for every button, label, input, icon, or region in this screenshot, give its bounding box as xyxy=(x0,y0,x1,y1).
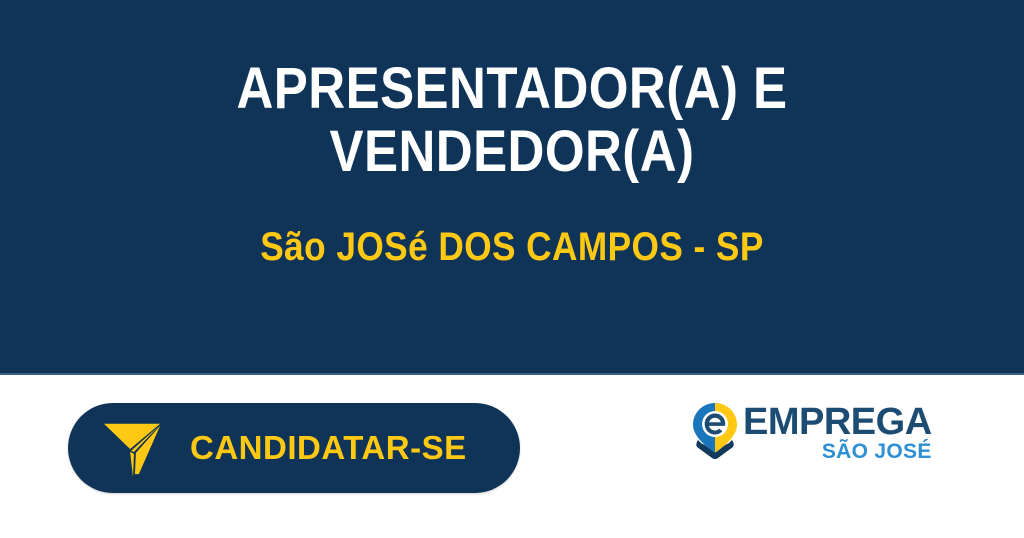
brand-subtitle: SÃO JOSÉ xyxy=(822,441,932,462)
brand-logo: EMPREGA SÃO JOSÉ xyxy=(692,400,924,470)
page-title: APRESENTADOR(A) E VENDEDOR(A) xyxy=(61,58,962,183)
apply-button[interactable]: CANDIDATAR-SE xyxy=(68,403,520,493)
job-location-subtitle: São JOSé DOS CAMPOS - SP xyxy=(61,225,962,269)
apply-button-label: CANDIDATAR-SE xyxy=(190,429,467,467)
job-posting-card: APRESENTADOR(A) E VENDEDOR(A) São JOSé D… xyxy=(0,0,1024,538)
location-pin-e-icon xyxy=(692,402,738,460)
footer-section: CANDIDATAR-SE EMPREGA SÃO JOSÉ xyxy=(0,375,1024,538)
hero-section: APRESENTADOR(A) E VENDEDOR(A) São JOSé D… xyxy=(0,0,1024,375)
send-plane-icon xyxy=(102,417,164,479)
brand-name: EMPREGA xyxy=(743,404,932,440)
brand-wordmark: EMPREGA SÃO JOSÉ xyxy=(743,400,932,462)
